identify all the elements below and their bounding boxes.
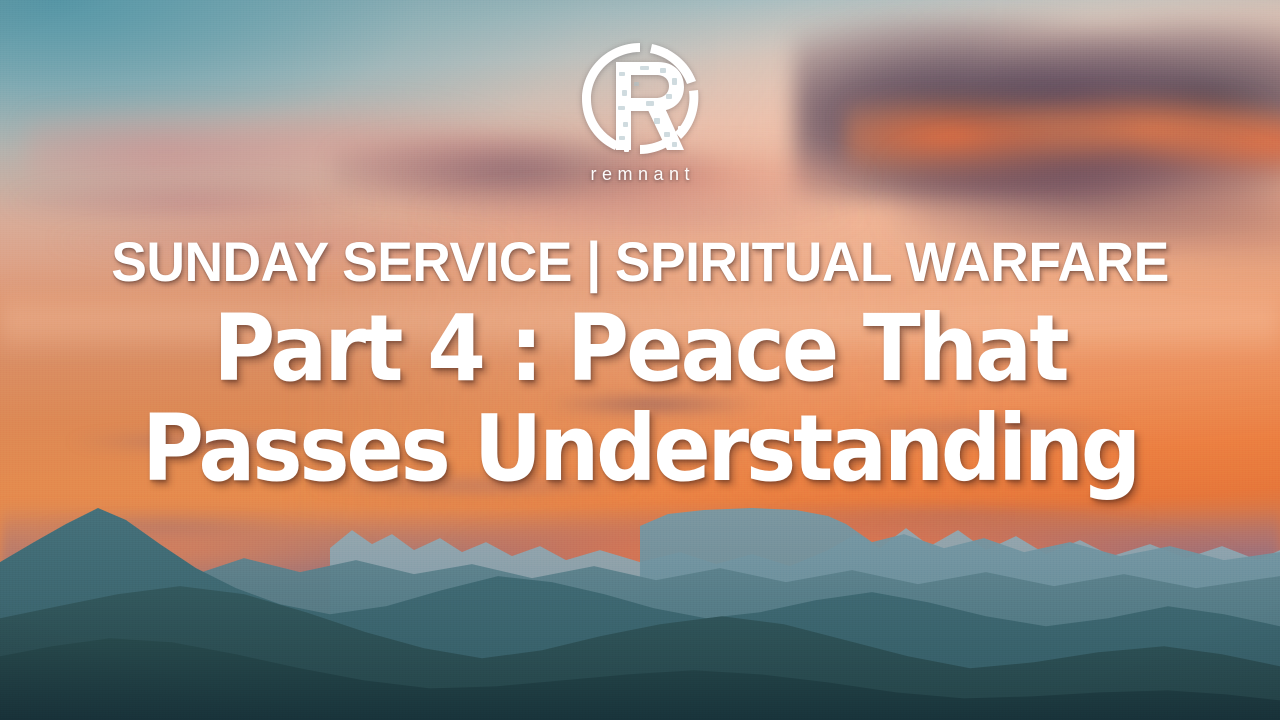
sermon-title-line-1: Part 4 : Peace That [51,299,1229,399]
title-block: SUNDAY SERVICE | SPIRITUAL WARFARE Part … [0,232,1280,499]
mountain-ridges [0,490,1280,720]
sermon-title-line-2: Passes Understanding [51,399,1229,499]
remnant-logo: remnant [568,38,712,183]
sermon-title: Part 4 : Peace That Passes Understanding [51,299,1229,499]
logo-wordmark: remnant [585,165,695,183]
circle-grunge-r-monogram-icon [568,38,712,160]
title-slide: remnant SUNDAY SERVICE | SPIRITUAL WARFA… [0,0,1280,720]
series-eyebrow: SUNDAY SERVICE | SPIRITUAL WARFARE [29,232,1251,292]
